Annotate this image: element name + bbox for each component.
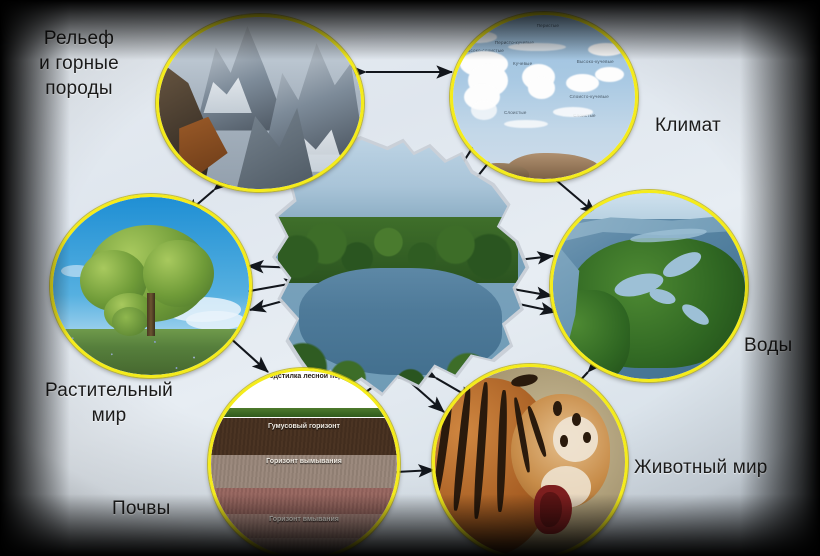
diagram-canvas: Перистые Перисто-кучевые Высоко-слоистые… — [0, 0, 820, 556]
label-animals: Животный мир — [634, 455, 814, 480]
node-vegetation[interactable] — [50, 194, 252, 378]
label-waters: Воды — [744, 333, 814, 358]
cloud-label-6: Слоисто-кучевые — [569, 94, 608, 99]
node-climate[interactable]: Перистые Перисто-кучевые Высоко-слоистые… — [450, 12, 638, 182]
tree-icon — [53, 197, 249, 375]
soil-layer-label-1: Гумусовый горизонт — [211, 423, 397, 431]
soil-layer-label-3: Горизонт вмывания — [211, 516, 397, 524]
cloud-label-7: Слоистые — [504, 110, 527, 115]
soil-profile-icon: подстилка лесной под Гумусовый горизонт … — [211, 371, 397, 556]
label-vegetation: Растительный мир — [20, 378, 198, 428]
node-soils[interactable]: подстилка лесной под Гумусовый горизонт … — [208, 368, 400, 556]
cloud-label-4: Высоко-кучевые — [577, 59, 614, 64]
label-relief: Рельеф и горные породы — [6, 26, 152, 101]
node-animals[interactable] — [432, 364, 628, 556]
mountain-icon — [159, 17, 361, 189]
soil-layer-label-0: подстилка лесной под — [211, 373, 397, 381]
river-icon — [553, 193, 745, 379]
label-climate: Климат — [655, 113, 795, 138]
clouds-icon: Перистые Перисто-кучевые Высоко-слоистые… — [453, 15, 635, 179]
soil-layer-label-2: Горизонт вымывания — [211, 458, 397, 466]
node-relief[interactable] — [156, 14, 364, 192]
node-waters[interactable] — [550, 190, 748, 382]
tiger-icon — [435, 367, 625, 556]
label-soils: Почвы — [112, 496, 222, 521]
arrow-soils-animals — [396, 470, 434, 472]
cloud-label-0: Перистые — [537, 23, 559, 28]
